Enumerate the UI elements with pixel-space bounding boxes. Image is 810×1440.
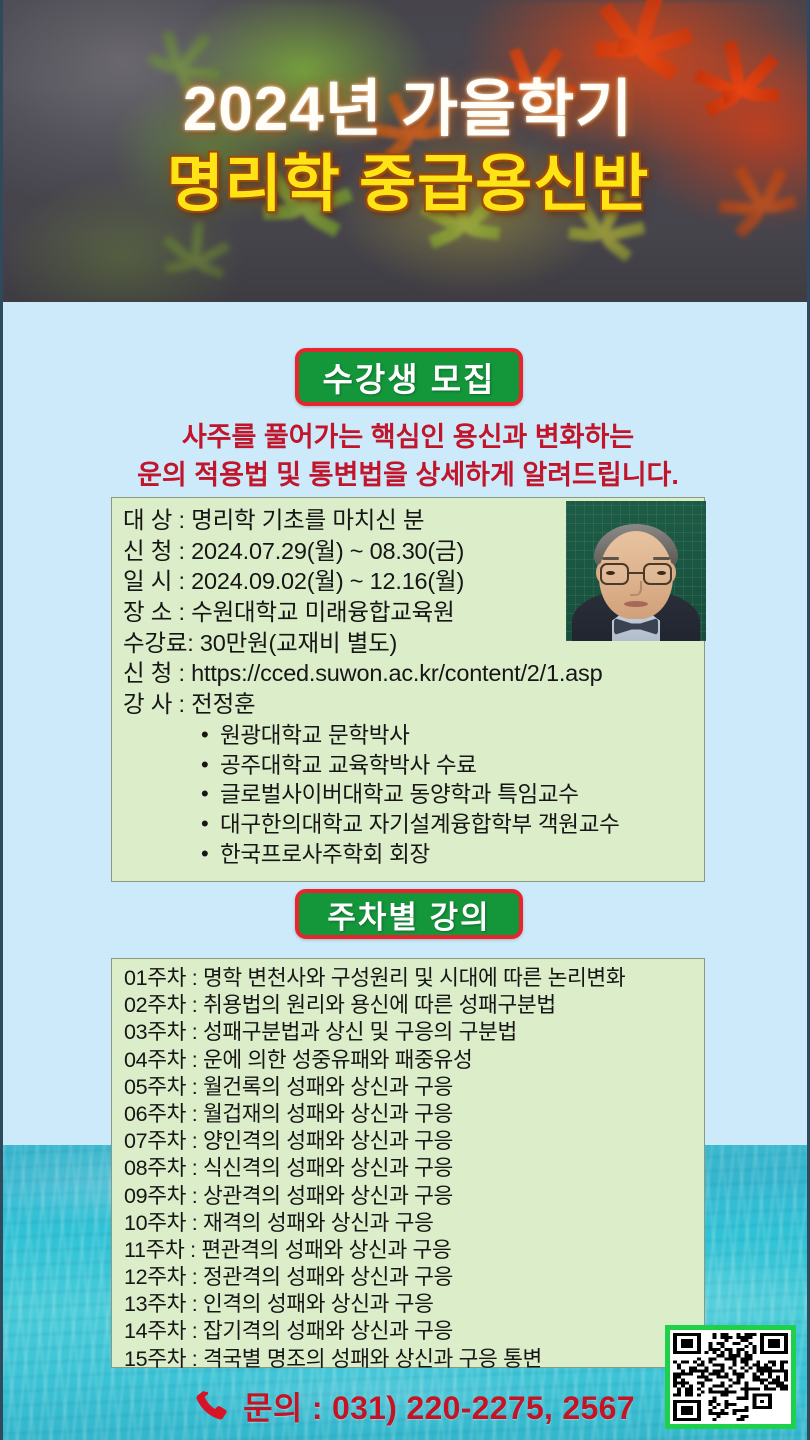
eyebrow-shape: [653, 557, 670, 560]
list-item: 대구한의대학교 자기설계융합학부 객원교수: [201, 810, 704, 840]
course-info-box: 대 상 : 명리학 기초를 마치신 분 신 청 : 2024.07.29(월) …: [111, 497, 705, 882]
weekly-badge: 주차별 강의: [295, 889, 523, 939]
qr-canvas: [673, 1333, 788, 1421]
subtitle-line2: 운의 적용법 및 통변법을 상세하게 알려드립니다.: [3, 456, 810, 494]
list-item: 14주차 : 잡기격의 성패와 상신과 구응: [124, 1318, 704, 1345]
mouth-shape: [624, 601, 648, 607]
list-item: 01주차 : 명학 변천사와 구성원리 및 시대에 따른 논리변화: [124, 965, 704, 992]
list-item: 11주차 : 편관격의 성패와 상신과 구응: [124, 1237, 704, 1264]
list-item: 글로벌사이버대학교 동양학과 특임교수: [201, 780, 704, 810]
eyebrow-shape: [602, 557, 619, 560]
list-item: 03주차 : 성패구분법과 상신 및 구응의 구분법: [124, 1019, 704, 1046]
instructor-portrait-photo: [566, 501, 706, 641]
phone-icon: [193, 1388, 229, 1424]
list-item: 09주차 : 상관격의 성패와 상신과 구응: [124, 1183, 704, 1210]
list-item: 02주차 : 취용법의 원리와 용신에 따른 성패구분법: [124, 992, 704, 1019]
application-url-line[interactable]: 신 청 : https://cced.suwon.ac.kr/content/2…: [123, 658, 704, 689]
eye-shape: [606, 571, 615, 575]
list-item: 공주대학교 교육학박사 수료: [201, 751, 704, 781]
subtitle-line1: 사주를 풀어가는 핵심인 용신과 변화하는: [3, 418, 810, 456]
hero-title-line2: 명리학 중급용신반: [3, 153, 810, 216]
list-item: 13주차 : 인격의 성패와 상신과 구응: [124, 1291, 704, 1318]
list-item: 10주차 : 재격의 성패와 상신과 구응: [124, 1210, 704, 1237]
poster-root: 2024년 가을학기 명리학 중급용신반 수강생 모집 사주를 풀어가는 핵심인…: [0, 0, 810, 1440]
subtitle-block: 사주를 풀어가는 핵심인 용신과 변화하는 운의 적용법 및 통변법을 상세하게…: [3, 418, 810, 495]
instructor-name-line: 강 사 : 전정훈: [123, 689, 704, 720]
contact-phone-text: 문의 : 031) 220-2275, 2567: [243, 1383, 635, 1429]
qr-code[interactable]: [665, 1325, 796, 1429]
list-item: 06주차 : 월겁재의 성패와 상신과 구응: [124, 1101, 704, 1128]
list-item: 15주차 : 격국별 명조의 성패와 상신과 구응 통변: [124, 1346, 704, 1373]
list-item: 07주차 : 양인격의 성패와 상신과 구응: [124, 1128, 704, 1155]
hero-title-block: 2024년 가을학기 명리학 중급용신반: [3, 78, 810, 216]
instructor-credentials-list: 원광대학교 문학박사 공주대학교 교육학박사 수료 글로벌사이버대학교 동양학과…: [123, 721, 704, 871]
list-item: 원광대학교 문학박사: [201, 721, 704, 751]
list-item: 05주차 : 월건록의 성패와 상신과 구응: [124, 1074, 704, 1101]
list-item: 한국프로사주학회 회장: [201, 840, 704, 870]
nose-shape: [630, 581, 642, 596]
hero-title-line1: 2024년 가을학기: [3, 78, 810, 141]
list-item: 08주차 : 식신격의 성패와 상신과 구응: [124, 1155, 704, 1182]
hero-photo-banner: 2024년 가을학기 명리학 중급용신반: [3, 0, 810, 302]
list-item: 12주차 : 정관격의 성패와 상신과 구응: [124, 1264, 704, 1291]
weekly-schedule-box: 01주차 : 명학 변천사와 구성원리 및 시대에 따른 논리변화 02주차 :…: [111, 958, 705, 1368]
list-item: 04주차 : 운에 의한 성중유패와 패중유성: [124, 1047, 704, 1074]
recruit-badge: 수강생 모집: [295, 348, 523, 406]
eye-shape: [657, 571, 666, 575]
